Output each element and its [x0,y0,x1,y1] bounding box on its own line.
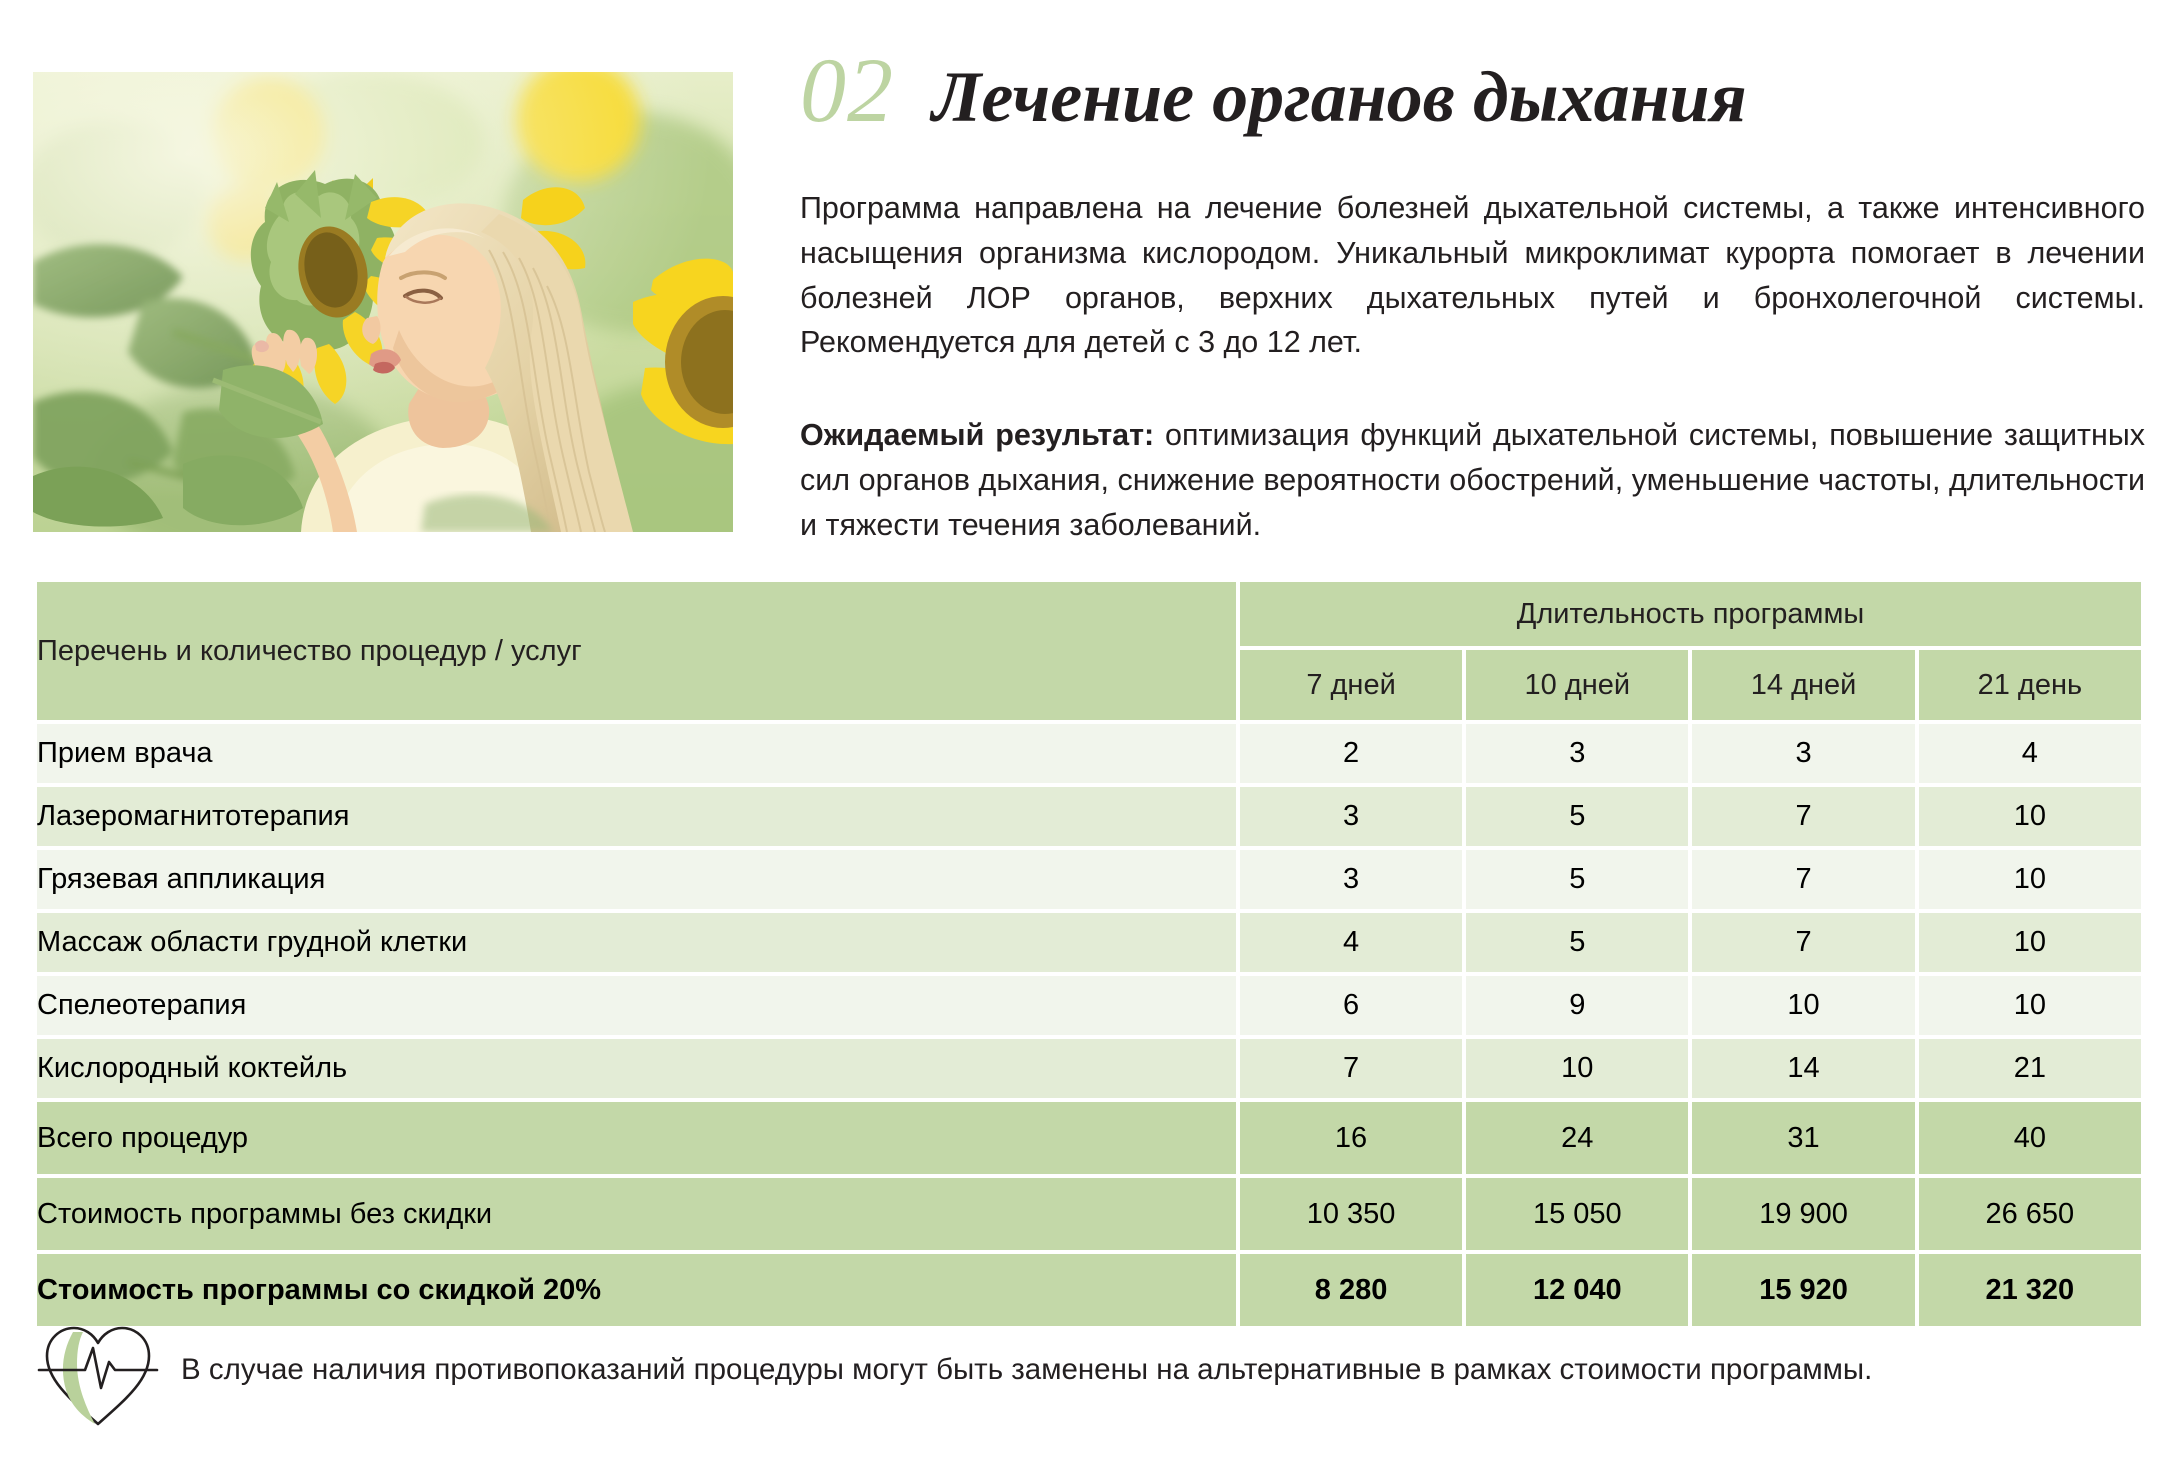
table-row: Грязевая аппликация 3 5 7 10 [37,850,2141,909]
row-value: 7 [1692,850,1914,909]
heart-pulse-icon [33,1308,163,1432]
intro-paragraph: Программа направлена на лечение болезней… [800,186,2145,365]
row-label: Кислородный коктейль [37,1039,1236,1098]
program-photo [33,72,733,532]
row-value: 16 [1240,1102,1462,1174]
row-value: 5 [1466,850,1688,909]
row-value: 7 [1692,787,1914,846]
program-table: Перечень и количество процедур / услуг Д… [33,578,2145,1330]
header-service-list: Перечень и количество процедур / услуг [37,582,1236,720]
row-label: Всего процедур [37,1102,1236,1174]
row-value: 9 [1466,976,1688,1035]
table-head: Перечень и количество процедур / услуг Д… [37,582,2141,720]
row-value: 10 [1919,913,2141,972]
table-row: Массаж области грудной клетки 4 5 7 10 [37,913,2141,972]
row-value: 3 [1240,787,1462,846]
summary-row-price-full: Стоимость программы без скидки 10 350 15… [37,1178,2141,1250]
header-duration-10: 10 дней [1466,650,1688,720]
table-row: Прием врача 2 3 3 4 [37,724,2141,783]
row-label: Массаж области грудной клетки [37,913,1236,972]
row-label: Прием врача [37,724,1236,783]
row-value: 3 [1466,724,1688,783]
table-row: Кислородный коктейль 7 10 14 21 [37,1039,2141,1098]
row-label: Спелеотерапия [37,976,1236,1035]
row-value: 5 [1466,787,1688,846]
row-value: 15 050 [1466,1178,1688,1250]
expected-result-label: Ожидаемый результат: [800,418,1154,452]
summary-row-total-procedures: Всего процедур 16 24 31 40 [37,1102,2141,1174]
expected-result-paragraph: Ожидаемый результат: оптимизация функций… [800,413,2145,547]
row-value: 7 [1240,1039,1462,1098]
header-program-duration: Длительность программы [1240,582,2141,646]
row-value: 26 650 [1919,1178,2141,1250]
row-value: 7 [1692,913,1914,972]
row-value: 4 [1240,913,1462,972]
row-value: 5 [1466,913,1688,972]
header-duration-14: 14 дней [1692,650,1914,720]
footer-note-text: В случае наличия противопоказаний процед… [181,1353,1872,1387]
row-label: Лазеромагнитотерапия [37,787,1236,846]
table-row: Спелеотерапия 6 9 10 10 [37,976,2141,1035]
row-value: 10 [1692,976,1914,1035]
row-value: 10 [1919,976,2141,1035]
row-value: 14 [1692,1039,1914,1098]
row-value: 10 [1919,787,2141,846]
page-title: Лечение органов дыхания [932,61,1747,133]
table-row: Лазеромагнитотерапия 3 5 7 10 [37,787,2141,846]
row-value: 4 [1919,724,2141,783]
table-body: Прием врача 2 3 3 4 Лазеромагнитотерапия… [37,724,2141,1326]
table-header-row-group: Перечень и количество процедур / услуг Д… [37,582,2141,646]
row-value: 6 [1240,976,1462,1035]
sunflower-field-photo [33,72,733,532]
brochure-page: 02 Лечение органов дыхания Программа нап… [0,0,2176,1477]
section-number: 02 [800,44,894,136]
row-value: 3 [1240,850,1462,909]
footer-note-block: В случае наличия противопоказаний процед… [33,1308,2145,1432]
row-label: Грязевая аппликация [37,850,1236,909]
row-value: 10 [1919,850,2141,909]
heart-pulse-icon-svg [33,1308,163,1432]
header-duration-21: 21 день [1919,650,2141,720]
row-value: 10 [1466,1039,1688,1098]
page-title-row: 02 Лечение органов дыхания [800,44,2145,154]
row-value: 24 [1466,1102,1688,1174]
header-duration-7: 7 дней [1240,650,1462,720]
header-block: 02 Лечение органов дыхания Программа нап… [800,44,2145,548]
row-value: 3 [1692,724,1914,783]
row-value: 40 [1919,1102,2141,1174]
row-value: 31 [1692,1102,1914,1174]
row-value: 19 900 [1692,1178,1914,1250]
row-value: 21 [1919,1039,2141,1098]
row-value: 2 [1240,724,1462,783]
row-label: Стоимость программы без скидки [37,1178,1236,1250]
row-value: 10 350 [1240,1178,1462,1250]
